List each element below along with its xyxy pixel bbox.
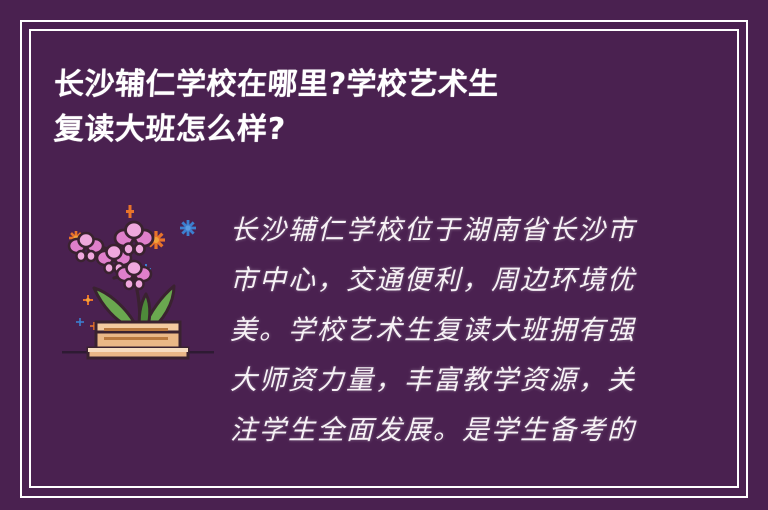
body-line-4: 大师资力量，丰富教学资源，关	[230, 356, 660, 406]
flower-pot	[88, 322, 188, 358]
potted-orchid-illustration	[58, 196, 218, 371]
body-line-3: 美。学校艺术生复读大班拥有强	[230, 306, 660, 356]
poster-title: 长沙辅仁学校在哪里?学校艺术生 复读大班怎么样?	[54, 62, 714, 152]
orchid-flowers	[69, 222, 153, 289]
body-line-5: 注学生全面发展。是学生备考的	[230, 406, 660, 456]
body-line-2: 市中心，交通便利，周边环境优	[230, 256, 660, 306]
body-line-1: 长沙辅仁学校位于湖南省长沙市	[230, 206, 660, 256]
title-line-2: 复读大班怎么样?	[53, 107, 715, 152]
poster-canvas: 长沙辅仁学校在哪里?学校艺术生 复读大班怎么样?	[0, 0, 768, 510]
title-line-1: 长沙辅仁学校在哪里?学校艺术生	[53, 62, 715, 107]
poster-body-text: 长沙辅仁学校位于湖南省长沙市 市中心，交通便利，周边环境优 美。学校艺术生复读大…	[230, 206, 660, 456]
